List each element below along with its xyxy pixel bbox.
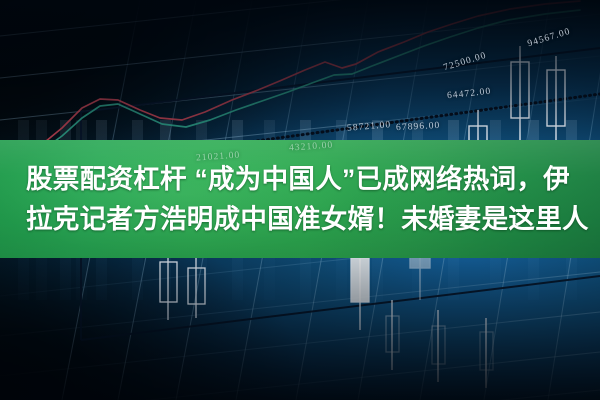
vignette-overlay: [0, 0, 600, 400]
chart-banner-image: 94567.0072500.0064472.0058721.0067896.00…: [0, 0, 600, 400]
